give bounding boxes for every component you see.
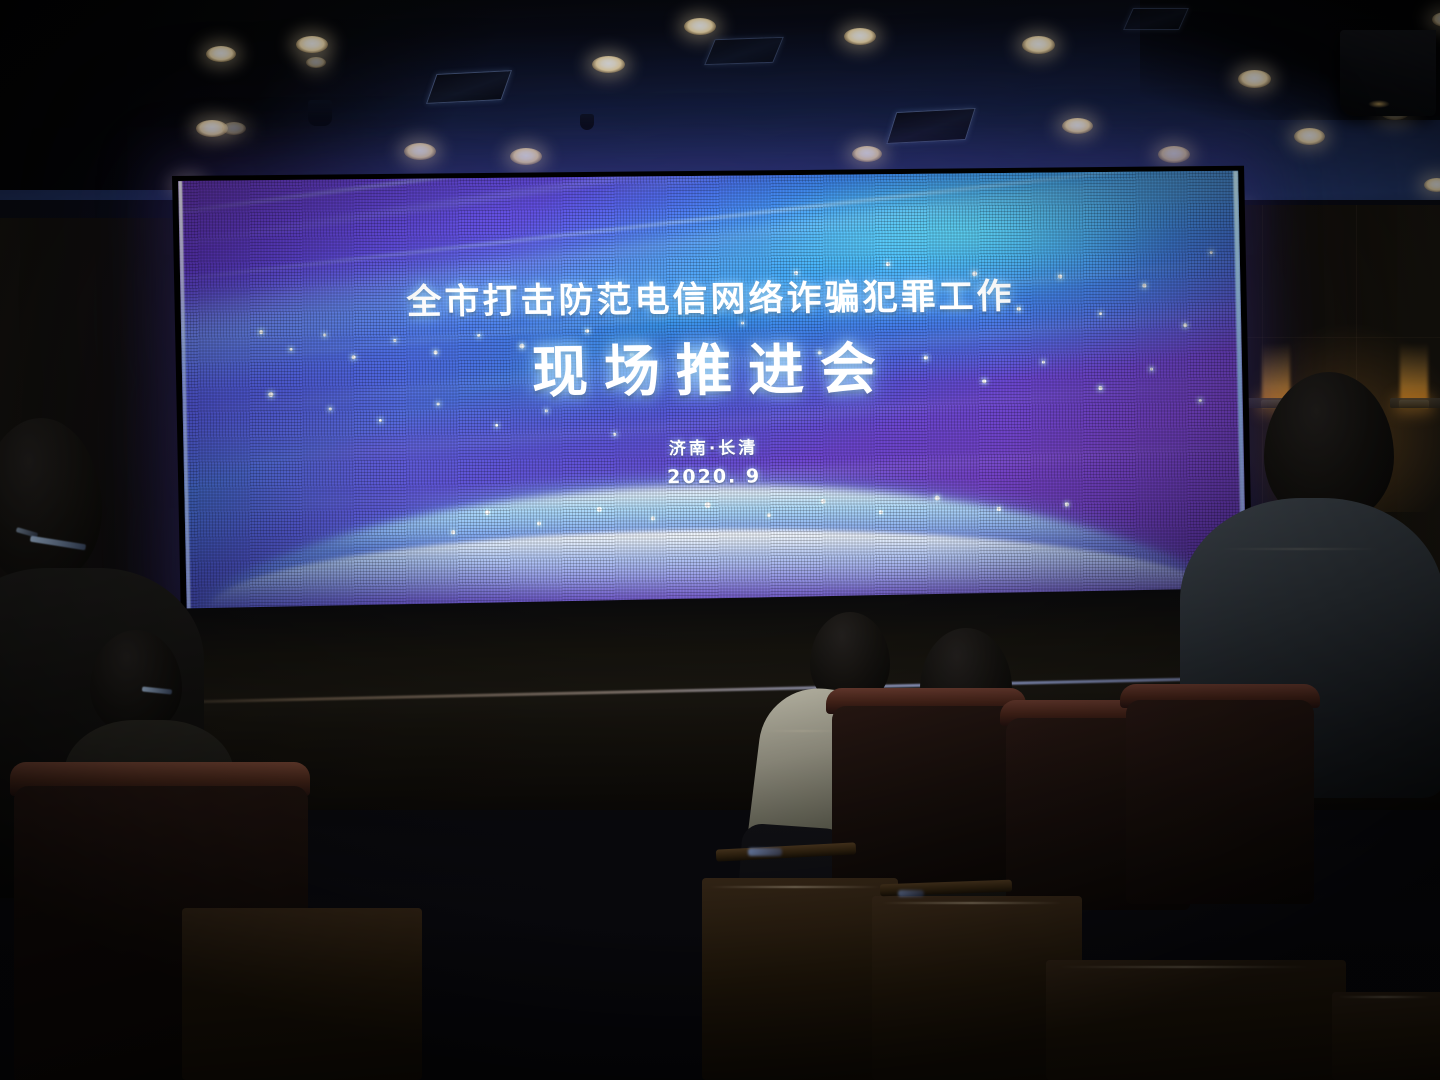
ceiling-speaker-icon	[308, 100, 332, 126]
seat-back	[1126, 700, 1314, 904]
phone-screen-glow	[898, 890, 924, 897]
auditorium-seat	[826, 688, 1026, 888]
slide-title-line2: 现场推进会	[181, 321, 1243, 412]
hvac-vent-icon	[886, 108, 975, 144]
seat-wood-panel	[182, 908, 422, 1080]
highlight	[710, 886, 880, 888]
phone-screen-glow	[748, 848, 782, 856]
hvac-vent-icon	[704, 37, 784, 65]
downlight-icon	[1238, 70, 1271, 88]
person-head	[0, 418, 102, 584]
downlight-icon	[1022, 36, 1055, 54]
downlight-icon	[1294, 128, 1325, 145]
auditorium-seat-foreground	[702, 862, 898, 1080]
auditorium-seat-foreground-left	[182, 900, 422, 1080]
downlight-icon	[222, 122, 246, 135]
downlight-icon	[1424, 178, 1440, 192]
highlight	[1060, 966, 1310, 968]
ceiling-speaker-icon	[580, 114, 594, 130]
person-head	[90, 630, 182, 734]
downlight-icon	[404, 143, 436, 160]
downlight-icon	[1062, 118, 1093, 134]
led-display-screen: 全市打击防范电信网络诈骗犯罪工作 现场推进会 济南·长清 2020. 9	[172, 166, 1253, 624]
slide-title-line1: 全市打击防范电信网络诈骗犯罪工作	[180, 266, 1241, 327]
seat-wood-panel	[1046, 960, 1346, 1080]
downlight-icon	[844, 28, 876, 45]
downlight-icon	[852, 146, 882, 162]
downlight-icon	[592, 56, 625, 73]
downlight-icon	[1158, 146, 1190, 163]
ceiling-projector-icon	[1340, 30, 1436, 116]
slide-text-block: 全市打击防范电信网络诈骗犯罪工作 现场推进会 济南·长清 2020. 9	[178, 171, 1247, 619]
slide-subtitle-place: 济南·长清	[183, 429, 1244, 464]
downlight-icon	[296, 36, 328, 53]
slide-subtitle-date: 2020. 9	[184, 461, 1244, 493]
seat-wood-panel	[1332, 992, 1440, 1080]
conference-room-photo: 全市打击防范电信网络诈骗犯罪工作 现场推进会 济南·长清 2020. 9	[0, 0, 1440, 1080]
downlight-icon	[306, 57, 326, 68]
highlight	[882, 902, 1062, 904]
seat-wood-panel	[702, 878, 898, 1080]
highlight	[1220, 548, 1380, 550]
hvac-vent-icon	[426, 70, 512, 104]
downlight-icon	[206, 46, 236, 62]
hvac-vent-icon	[1123, 8, 1189, 30]
auditorium-seat-foreground	[1046, 952, 1346, 1080]
downlight-icon	[684, 18, 716, 35]
auditorium-seat-foreground	[1332, 986, 1440, 1080]
screen-surface: 全市打击防范电信网络诈骗犯罪工作 现场推进会 济南·长清 2020. 9	[178, 171, 1247, 619]
auditorium-seat	[1120, 684, 1320, 904]
seat-back	[832, 706, 1020, 886]
downlight-icon	[510, 148, 542, 165]
highlight	[1338, 996, 1430, 998]
